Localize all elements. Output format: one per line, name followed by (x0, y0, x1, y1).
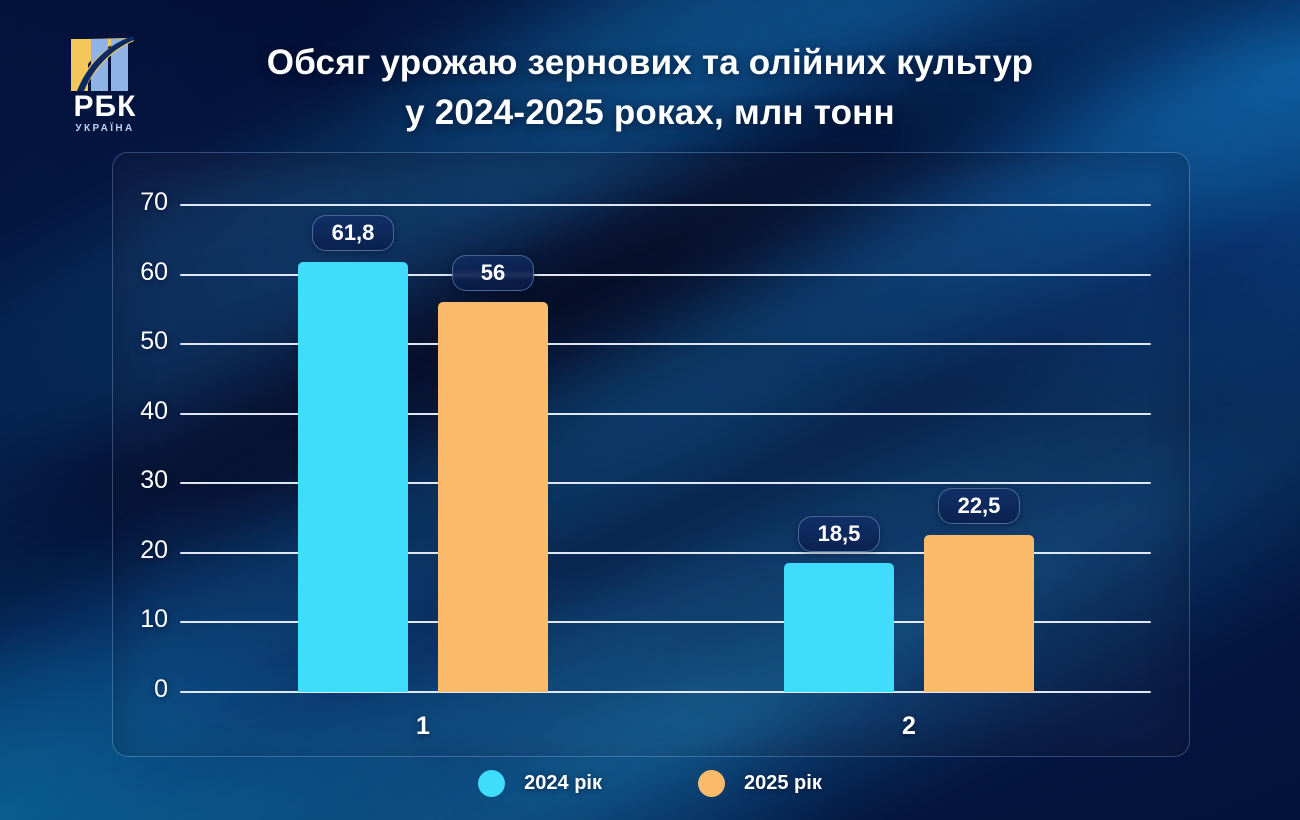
chart-canvas: РБК УКРАЇНА Обсяг урожаю зернових та олі… (0, 0, 1300, 820)
legend-swatch-icon (698, 770, 725, 797)
chart-title-line-1: Обсяг урожаю зернових та олійних культур (190, 38, 1110, 88)
legend-swatch-icon (478, 770, 505, 797)
legend-item-2025[interactable]: 2025 рік (698, 770, 822, 797)
logo-icon: РБК УКРАЇНА (64, 30, 146, 136)
legend-label: 2025 рік (744, 772, 822, 795)
chart-title: Обсяг урожаю зернових та олійних культур… (190, 38, 1110, 138)
rbc-ukraine-logo: РБК УКРАЇНА (64, 30, 146, 136)
svg-text:УКРАЇНА: УКРАЇНА (75, 121, 134, 134)
svg-text:РБК: РБК (74, 90, 137, 123)
chart-panel (112, 152, 1190, 757)
legend-item-2024[interactable]: 2024 рік (478, 770, 602, 797)
legend-label: 2024 рік (524, 772, 602, 795)
chart-title-line-2: у 2024-2025 роках, млн тонн (190, 88, 1110, 138)
chart-legend: 2024 рік 2025 рік (0, 770, 1300, 797)
